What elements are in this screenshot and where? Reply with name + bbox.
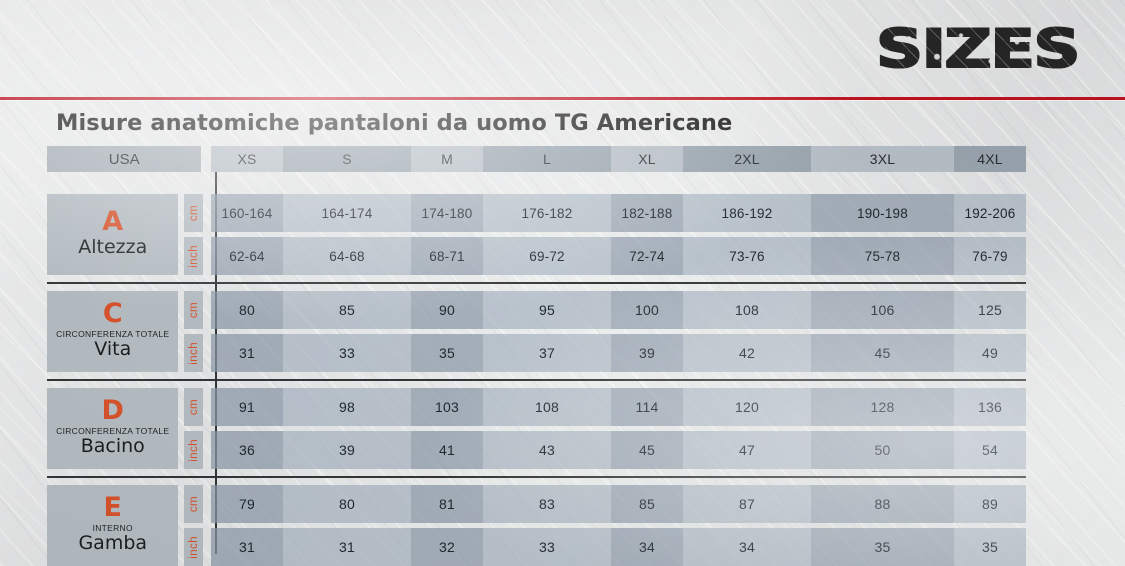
cell-altezza-cm-4xl: 192-206 [954,194,1026,232]
size-header-l: L [483,146,611,172]
size-header-2xl: 2XL [683,146,811,172]
unit-column: cminch [184,485,203,566]
cell-bacino-inch-l: 43 [483,431,611,469]
values-column: 79808183858788893131323334343535 [211,485,1026,566]
cell-gamba-inch-2xl: 34 [683,528,811,566]
unit-label-imperial: inch [188,536,200,559]
header-spacer [201,146,207,172]
header-band: SIZES [0,0,1125,99]
cell-vita-cm-s: 85 [283,291,411,329]
measurement-group-altezza: AAltezzacminch160-164164-174174-180176-1… [47,187,1026,282]
table-row: 3639414345475054 [211,431,1026,469]
cell-altezza-inch-2xl: 73-76 [683,237,811,275]
cell-bacino-inch-s: 39 [283,431,411,469]
cell-bacino-cm-l: 108 [483,388,611,426]
cell-gamba-inch-xs: 31 [211,528,283,566]
cell-bacino-inch-m: 41 [411,431,483,469]
size-header-cells: XSSMLXL2XL3XL4XL [211,146,1026,172]
unit-cell-metric: cm [184,388,203,426]
unit-label-imperial: inch [188,245,200,268]
unit-label-metric: cm [188,496,200,512]
unit-column: cminch [184,194,203,275]
cell-vita-inch-3xl: 45 [811,334,954,372]
size-header-xl: XL [611,146,683,172]
measure-name: Gamba [78,533,147,555]
measure-name: Vita [94,339,131,361]
cell-altezza-inch-3xl: 75-78 [811,237,954,275]
cell-vita-inch-s: 33 [283,334,411,372]
unit-cell-metric: cm [184,291,203,329]
cell-gamba-cm-xl: 85 [611,485,683,523]
cell-bacino-inch-xl: 45 [611,431,683,469]
cell-gamba-cm-m: 81 [411,485,483,523]
size-header-3xl: 3XL [811,146,954,172]
cell-gamba-inch-s: 31 [283,528,411,566]
cell-gamba-cm-xs: 79 [211,485,283,523]
cell-gamba-inch-l: 33 [483,528,611,566]
sizes-logo: SIZES [876,23,1079,76]
table-header-row: USA XSSMLXL2XL3XL4XL [47,146,1026,172]
cell-vita-cm-l: 95 [483,291,611,329]
cell-altezza-inch-m: 68-71 [411,237,483,275]
cell-bacino-cm-m: 103 [411,388,483,426]
size-header-4xl: 4XL [954,146,1026,172]
cell-bacino-cm-4xl: 136 [954,388,1026,426]
red-divider-line [0,97,1125,100]
values-column: 160-164164-174174-180176-182182-188186-1… [211,194,1026,275]
cell-vita-cm-2xl: 108 [683,291,811,329]
table-row: 3133353739424549 [211,334,1026,372]
values-column: 808590951001081061253133353739424549 [211,291,1026,372]
size-header-m: M [411,146,483,172]
unit-cell-metric: cm [184,485,203,523]
size-header-xs: XS [211,146,283,172]
cell-vita-inch-2xl: 42 [683,334,811,372]
unit-column: cminch [184,291,203,372]
cell-bacino-inch-xs: 36 [211,431,283,469]
cell-vita-inch-m: 35 [411,334,483,372]
cell-vita-inch-4xl: 49 [954,334,1026,372]
cell-altezza-inch-xs: 62-64 [211,237,283,275]
measure-letter: E [104,494,122,522]
cell-vita-inch-xl: 39 [611,334,683,372]
cell-vita-inch-xs: 31 [211,334,283,372]
cell-altezza-inch-4xl: 76-79 [954,237,1026,275]
cell-gamba-inch-3xl: 35 [811,528,954,566]
cell-bacino-cm-xl: 114 [611,388,683,426]
cell-bacino-cm-2xl: 120 [683,388,811,426]
cell-vita-cm-m: 90 [411,291,483,329]
cell-gamba-inch-4xl: 35 [954,528,1026,566]
table-row: 160-164164-174174-180176-182182-188186-1… [211,194,1026,232]
measure-letter: C [103,300,123,328]
cell-gamba-inch-m: 32 [411,528,483,566]
cell-altezza-cm-l: 176-182 [483,194,611,232]
size-header-s: S [283,146,411,172]
table-row: 62-6464-6868-7169-7272-7473-7675-7876-79 [211,237,1026,275]
cell-bacino-inch-4xl: 54 [954,431,1026,469]
cell-bacino-cm-xs: 91 [211,388,283,426]
measure-letter: D [102,397,124,425]
table-row: 7980818385878889 [211,485,1026,523]
cell-altezza-cm-3xl: 190-198 [811,194,954,232]
cell-altezza-cm-2xl: 186-192 [683,194,811,232]
table-row: 9198103108114120128136 [211,388,1026,426]
measure-name: Bacino [81,436,145,458]
unit-cell-imperial: inch [184,431,203,469]
measure-letter: A [102,208,123,236]
cell-bacino-cm-s: 98 [283,388,411,426]
unit-cell-imperial: inch [184,237,203,275]
table-row: 3131323334343535 [211,528,1026,566]
cell-vita-cm-xs: 80 [211,291,283,329]
cell-altezza-inch-xl: 72-74 [611,237,683,275]
cell-bacino-inch-3xl: 50 [811,431,954,469]
cell-gamba-cm-3xl: 88 [811,485,954,523]
row-label-altezza: AAltezza [47,194,178,275]
row-label-gamba: EINTERNOGamba [47,485,178,566]
measurement-group-gamba: EINTERNOGambacminch798081838587888931313… [47,478,1026,566]
cell-altezza-cm-xl: 182-188 [611,194,683,232]
unit-label-imperial: inch [188,439,200,462]
table-row: 80859095100108106125 [211,291,1026,329]
cell-vita-inch-l: 37 [483,334,611,372]
cell-gamba-cm-s: 80 [283,485,411,523]
cell-gamba-cm-4xl: 89 [954,485,1026,523]
unit-label-metric: cm [188,399,200,415]
measurement-groups: AAltezzacminch160-164164-174174-180176-1… [47,187,1026,566]
cell-bacino-cm-3xl: 128 [811,388,954,426]
values-column: 91981031081141201281363639414345475054 [211,388,1026,469]
unit-label-metric: cm [188,205,200,221]
measure-name: Altezza [78,237,147,259]
measurement-group-bacino: DCIRCONFERENZA TOTALEBacinocminch9198103… [47,381,1026,476]
corner-label-usa: USA [47,146,201,172]
cell-gamba-cm-l: 83 [483,485,611,523]
cell-altezza-cm-m: 174-180 [411,194,483,232]
measurement-group-vita: CCIRCONFERENZA TOTALEVitacminch808590951… [47,284,1026,379]
page-title: Misure anatomiche pantaloni da uomo TG A… [56,110,732,136]
unit-column: cminch [184,388,203,469]
cell-vita-cm-4xl: 125 [954,291,1026,329]
cell-gamba-cm-2xl: 87 [683,485,811,523]
unit-cell-imperial: inch [184,334,203,372]
size-table: USA XSSMLXL2XL3XL4XL AAltezzacminch160-1… [47,146,1026,554]
unit-cell-imperial: inch [184,528,203,566]
unit-label-imperial: inch [188,342,200,365]
unit-label-metric: cm [188,302,200,318]
cell-gamba-inch-xl: 34 [611,528,683,566]
size-chart-page: SIZES Misure anatomiche pantaloni da uom… [0,0,1125,566]
row-label-vita: CCIRCONFERENZA TOTALEVita [47,291,178,372]
cell-altezza-inch-s: 64-68 [283,237,411,275]
cell-altezza-cm-xs: 160-164 [211,194,283,232]
cell-altezza-inch-l: 69-72 [483,237,611,275]
cell-vita-cm-3xl: 106 [811,291,954,329]
cell-altezza-cm-s: 164-174 [283,194,411,232]
cell-vita-cm-xl: 100 [611,291,683,329]
row-label-bacino: DCIRCONFERENZA TOTALEBacino [47,388,178,469]
cell-bacino-inch-2xl: 47 [683,431,811,469]
unit-cell-metric: cm [184,194,203,232]
